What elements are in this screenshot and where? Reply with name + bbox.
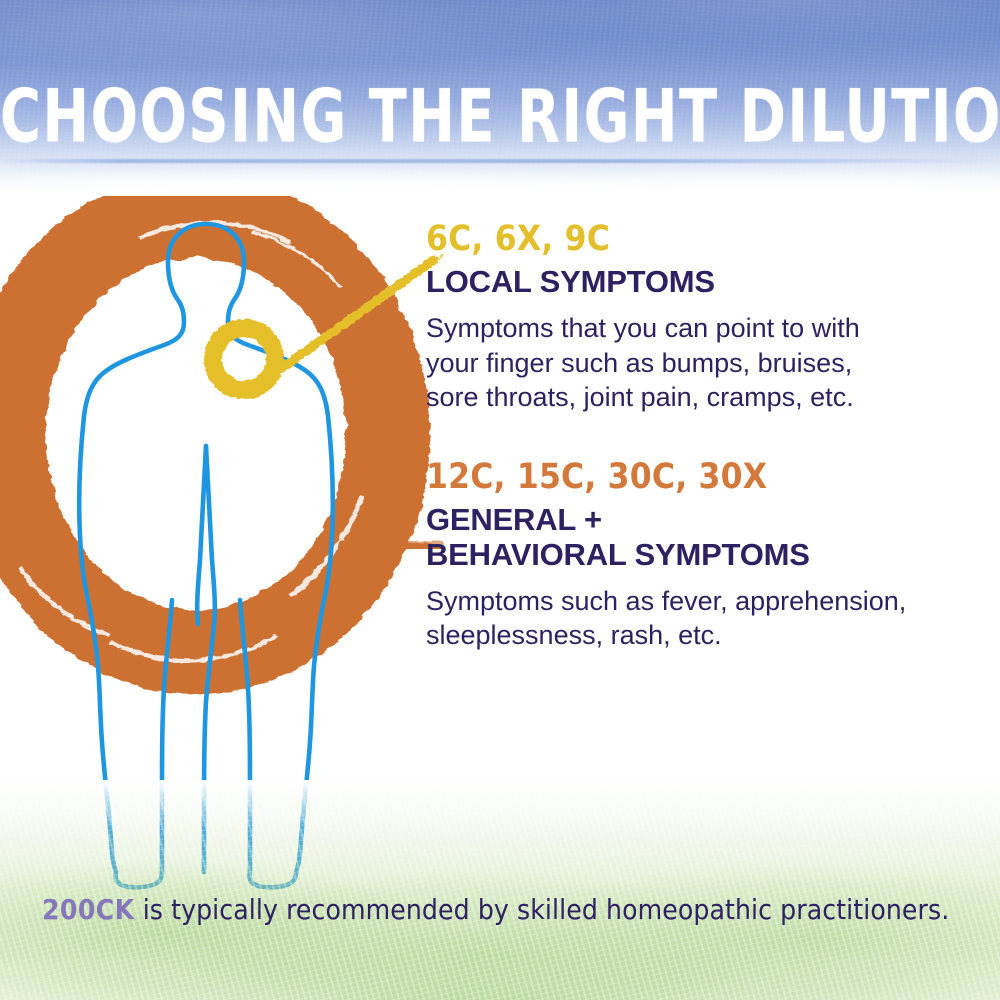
- footer-gradient-wash: [0, 780, 1000, 1000]
- dilution-block-general: 12C, 15C, 30C, 30X GENERAL + BEHAVIORAL …: [426, 460, 926, 653]
- infographic-page: CHOOSING THE RIGHT DILUTION: [0, 0, 1000, 1000]
- category-heading-general-line2: BEHAVIORAL SYMPTOMS: [426, 537, 926, 572]
- category-heading-local: LOCAL SYMPTOMS: [426, 264, 926, 299]
- footer-watercolor-band: [0, 780, 1000, 1000]
- category-description-general: Symptoms such as fever, apprehension, sl…: [426, 584, 908, 653]
- dose-label-general: 12C, 15C, 30C, 30X: [426, 460, 926, 495]
- header-bottom-fade: [0, 156, 1000, 190]
- footer-note: 200CK is typically recommended by skille…: [42, 893, 982, 926]
- page-title: CHOOSING THE RIGHT DILUTION: [0, 73, 1000, 159]
- category-heading-general: GENERAL + BEHAVIORAL SYMPTOMS: [426, 502, 926, 572]
- dilution-block-local: 6C, 6X, 9C LOCAL SYMPTOMS Symptoms that …: [426, 222, 926, 415]
- footer-potency-label: 200CK: [42, 893, 135, 926]
- category-heading-general-line1: GENERAL +: [426, 502, 926, 537]
- dose-label-local: 6C, 6X, 9C: [426, 222, 926, 257]
- category-description-local: Symptoms that you can point to with your…: [426, 311, 908, 415]
- yellow-ring-marker-icon: [206, 321, 282, 397]
- content-column: 6C, 6X, 9C LOCAL SYMPTOMS Symptoms that …: [426, 222, 926, 653]
- footer-note-text: is typically recommended by skilled home…: [135, 893, 950, 926]
